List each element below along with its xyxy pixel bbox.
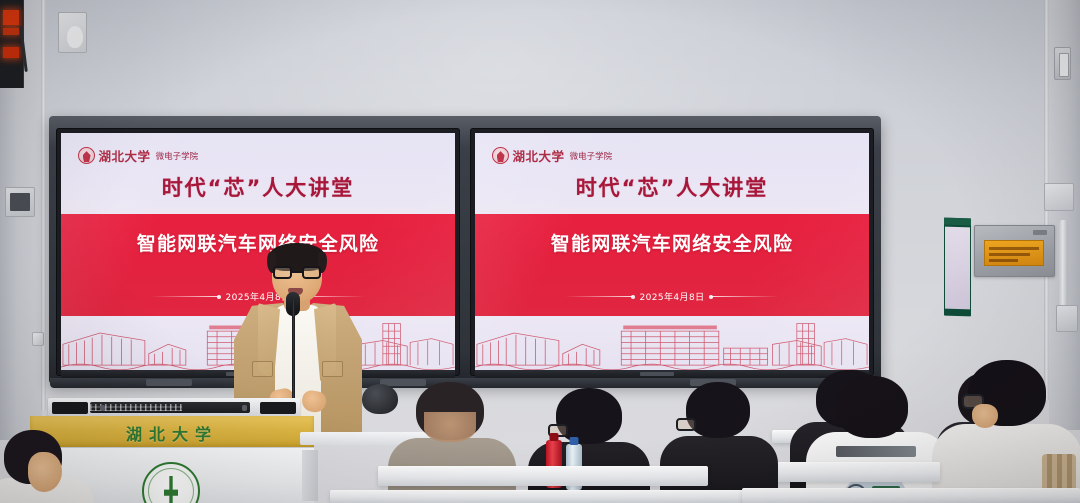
glasses-lens-left <box>273 266 292 279</box>
junction-box-lower <box>1056 305 1078 332</box>
framed-notice <box>944 218 971 317</box>
date-rule-left <box>151 296 219 297</box>
audience-face <box>972 404 998 428</box>
slide-organization-logo: 湖北大学 微电子学院 <box>78 146 199 165</box>
glasses-bridge <box>292 271 302 273</box>
glasses-lens-right <box>302 266 321 279</box>
bottle-cap <box>550 433 559 441</box>
date-rule-left <box>565 296 633 297</box>
dual-display-wall: 湖北大学 微电子学院 时代“芯”人大讲堂 智能网联汽车网络安全风险 2025年4… <box>50 120 880 384</box>
console-speaker-left <box>52 402 88 414</box>
university-seal-icon <box>492 147 509 164</box>
university-crest-icon <box>142 462 200 503</box>
lecture-hall-photo: 湖北大学 微电子学院 时代“芯”人大讲堂 智能网联汽车网络安全风险 2025年4… <box>0 0 1080 503</box>
slide-logo-text: 湖北大学 <box>99 146 151 165</box>
console-knob[interactable] <box>100 405 105 411</box>
bench-row-1 <box>378 466 708 486</box>
bottle-cap <box>570 437 579 445</box>
audience-neck <box>424 412 476 442</box>
wall-plate-small <box>32 332 44 346</box>
notice-header-bar <box>944 218 971 226</box>
tshirt-graphic-text <box>836 446 916 457</box>
panel-latch <box>1033 230 1047 235</box>
warning-label <box>984 240 1044 266</box>
bench-row-front-right <box>742 488 1080 503</box>
audience-head <box>836 376 908 438</box>
speaker-pocket-right <box>322 361 343 377</box>
led-segment <box>3 28 19 35</box>
wall-plate <box>58 12 87 53</box>
lectern-nameplate: 湖北大学 <box>30 416 314 447</box>
bench-row-front-left <box>330 490 750 503</box>
slide-organization-logo: 湖北大学 微电子学院 <box>492 146 613 165</box>
slide-right: 湖北大学 微电子学院 时代“芯”人大讲堂 智能网联汽车网络安全风险 2025年4… <box>475 133 869 371</box>
slide-title: 时代“芯”人大讲堂 <box>475 172 869 202</box>
audience-glasses-icon <box>676 418 696 431</box>
light-switch[interactable] <box>5 187 35 217</box>
lectern-nameplate-text: 湖北大学 <box>30 421 314 445</box>
audience-head <box>686 382 750 438</box>
led-segment <box>3 47 19 58</box>
slide-date: 2025年4月8日 <box>640 290 705 303</box>
console-knob[interactable] <box>242 405 247 411</box>
right-display-panel: 湖北大学 微电子学院 时代“芯”人大讲堂 智能网联汽车网络安全风险 2025年4… <box>475 133 869 371</box>
wall-seam-left <box>41 0 46 410</box>
lectern-side-panel <box>302 450 318 501</box>
slide-bottom-band <box>475 316 869 371</box>
slide-logo-text: 湖北大学 <box>513 146 565 165</box>
wall-outlet <box>1054 47 1071 80</box>
console-speaker-right <box>260 402 296 414</box>
notice-paper <box>945 227 970 310</box>
lectern-console[interactable] <box>48 398 300 416</box>
display-brand-mark <box>640 372 674 376</box>
speaker-pocket-left <box>252 361 273 377</box>
mount-control <box>146 379 192 386</box>
date-rule-right <box>711 296 779 297</box>
right-display[interactable]: 湖北大学 微电子学院 时代“芯”人大讲堂 智能网联汽车网络安全风险 2025年4… <box>470 128 874 376</box>
slide-logo-subtext: 微电子学院 <box>156 150 199 162</box>
campus-skyline-art <box>475 316 869 371</box>
slide-subtitle: 智能网联汽车网络安全风险 <box>475 229 869 256</box>
junction-box-upper <box>1044 183 1074 211</box>
crest-inner-ring <box>148 468 194 503</box>
slide-title: 时代“芯”人大讲堂 <box>61 172 455 202</box>
speaker-glasses-icon <box>273 266 321 279</box>
slide-logo-subtext: 微电子学院 <box>570 150 613 162</box>
university-seal-icon <box>78 147 95 164</box>
led-segment <box>3 10 19 25</box>
electrical-panel <box>974 225 1055 277</box>
slide-date-row: 2025年4月8日 <box>475 290 869 303</box>
dark-object-on-desk <box>362 384 398 414</box>
